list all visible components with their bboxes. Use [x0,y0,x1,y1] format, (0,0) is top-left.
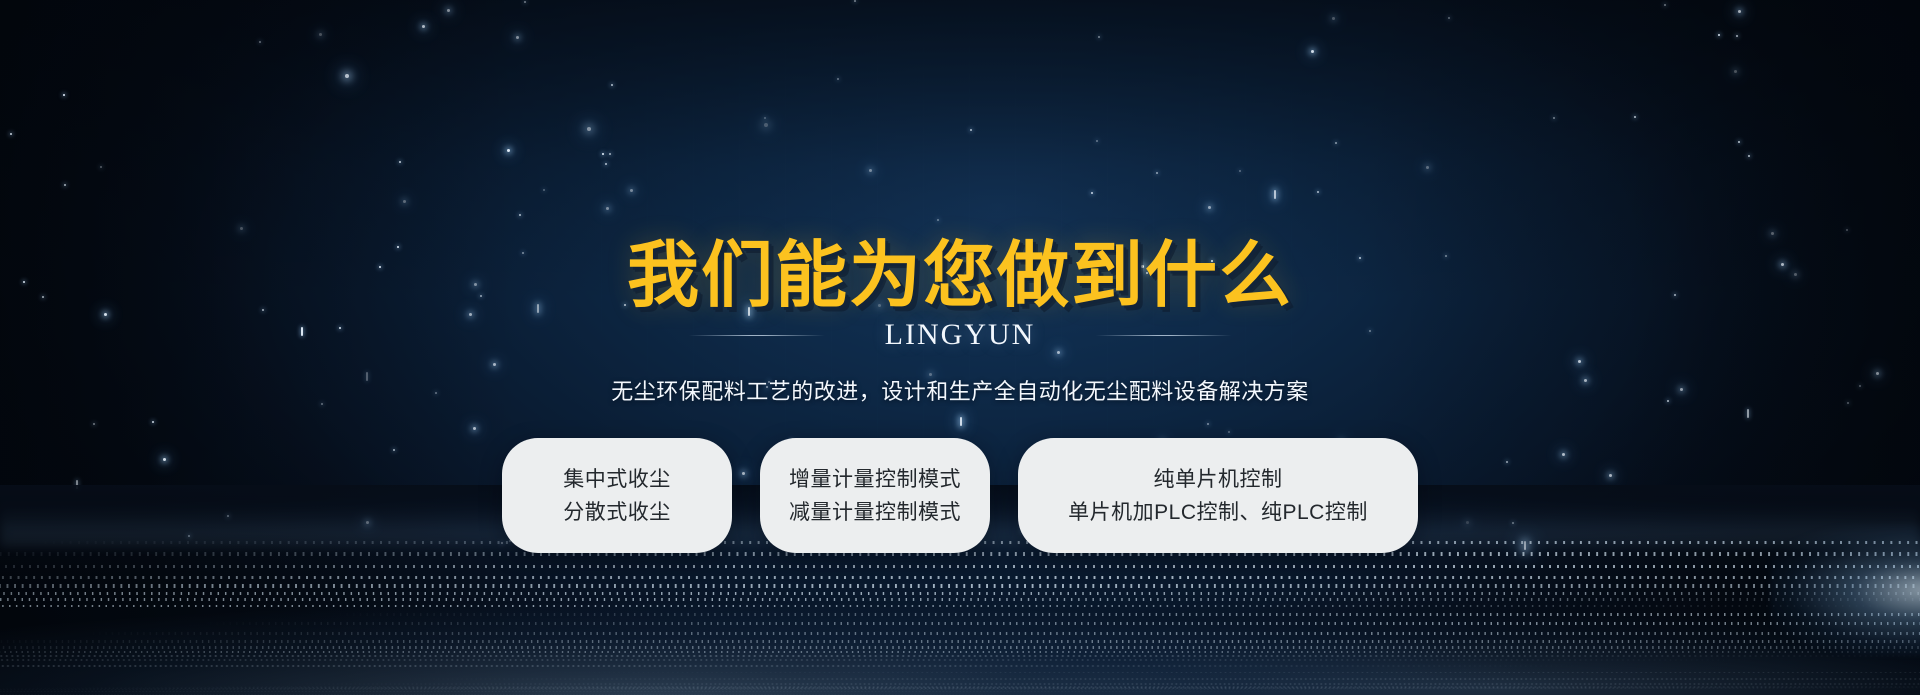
hero-content: 我们能为您做到什么 LINGYUN 无尘环保配料工艺的改进，设计和生产全自动化无… [0,0,1920,695]
hero-subtitle-row: LINGYUN [689,318,1232,352]
feature-card-metering-control-mode[interactable]: 增量计量控制模式 减量计量控制模式 [760,438,990,553]
card-line: 集中式收尘 [563,469,671,490]
feature-card-dust-collection[interactable]: 集中式收尘 分散式收尘 [502,438,732,553]
hero-description: 无尘环保配料工艺的改进，设计和生产全自动化无尘配料设备解决方案 [611,374,1309,406]
hero-banner: 我们能为您做到什么 LINGYUN 无尘环保配料工艺的改进，设计和生产全自动化无… [0,0,1920,695]
card-line: 分散式收尘 [563,502,671,523]
subtitle-rule-left [689,335,825,336]
card-line: 减量计量控制模式 [789,502,961,523]
card-line: 单片机加PLC控制、纯PLC控制 [1068,502,1368,523]
card-line: 增量计量控制模式 [789,469,961,490]
feature-card-controller-type[interactable]: 纯单片机控制 单片机加PLC控制、纯PLC控制 [1018,438,1418,553]
hero-title: 我们能为您做到什么 [627,240,1293,312]
hero-subtitle: LINGYUN [885,318,1036,352]
card-line: 纯单片机控制 [1154,469,1283,490]
subtitle-rule-right [1095,335,1231,336]
feature-card-row: 集中式收尘 分散式收尘 增量计量控制模式 减量计量控制模式 纯单片机控制 单片机… [502,438,1418,553]
